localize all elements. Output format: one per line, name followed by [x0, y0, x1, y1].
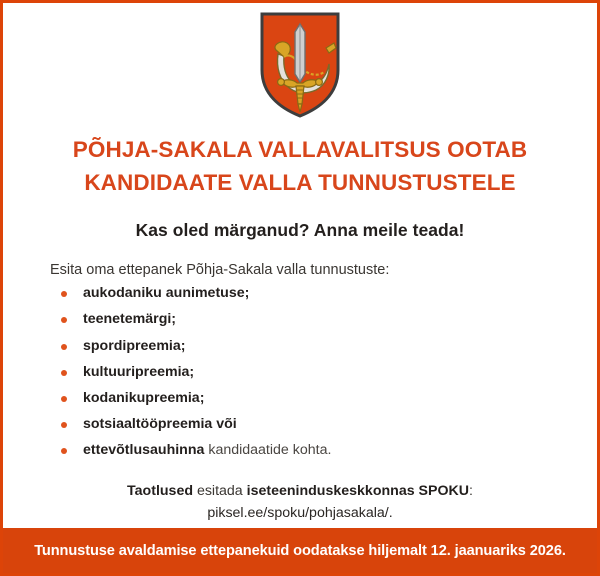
- instructions-portal-name: iseteeninduskeskkonnas SPOKU: [247, 483, 469, 499]
- page-title-line-1: PÕHJA-SAKALA VALLAVALITSUS OOTAB: [3, 134, 597, 167]
- list-item-label: teenetemärgi;: [83, 311, 176, 327]
- list-item-tail: kandidaatide kohta.: [204, 442, 331, 458]
- page-title: PÕHJA-SAKALA VALLAVALITSUS OOTAB KANDIDA…: [3, 134, 597, 199]
- bullet-dot-icon: [61, 370, 67, 376]
- list-item: teenetemärgi;: [61, 312, 597, 326]
- list-item-label: kultuuripreemia;: [83, 364, 194, 380]
- list-item-label: kodanikupreemia;: [83, 390, 204, 406]
- bullet-dot-icon: [61, 448, 67, 454]
- instructions-plain-1: esitada: [193, 483, 247, 499]
- award-types-list: aukodaniku aunimetuse; teenetemärgi; spo…: [3, 286, 597, 457]
- deadline-banner: Tunnustuse avaldamise ettepanekuid oodat…: [3, 528, 597, 573]
- coat-of-arms-shield-icon: [260, 12, 340, 118]
- list-item: ettevõtlusauhinna kandidaatide kohta.: [61, 443, 597, 457]
- intro-text: Esita oma ettepanek Põhja-Sakala valla t…: [3, 262, 597, 278]
- bullet-dot-icon: [61, 317, 67, 323]
- list-item: kodanikupreemia;: [61, 391, 597, 405]
- bullet-dot-icon: [61, 291, 67, 297]
- list-item-label: ettevõtlusauhinna: [83, 442, 204, 458]
- page-title-line-2: KANDIDAATE VALLA TUNNUSTUSTELE: [3, 167, 597, 200]
- instructions-bold-lead: Taotlused: [127, 483, 193, 499]
- bullet-dot-icon: [61, 422, 67, 428]
- crest-container: [3, 3, 597, 118]
- spoku-url[interactable]: piksel.ee/spoku/pohjasakala/.: [3, 502, 597, 524]
- list-item-label: aukodaniku aunimetuse;: [83, 285, 249, 301]
- deadline-text: Tunnustuse avaldamise ettepanekuid oodat…: [34, 543, 566, 559]
- subtitle: Kas oled märganud? Anna meile teada!: [3, 220, 597, 241]
- announcement-poster: PÕHJA-SAKALA VALLAVALITSUS OOTAB KANDIDA…: [0, 0, 600, 576]
- list-item: kultuuripreemia;: [61, 365, 597, 379]
- bullet-dot-icon: [61, 344, 67, 350]
- list-item-label: sotsiaaltööpreemia või: [83, 416, 237, 432]
- list-item: sotsiaaltööpreemia või: [61, 417, 597, 431]
- application-instructions: Taotlused esitada iseteeninduskeskkonnas…: [3, 480, 597, 524]
- list-item: aukodaniku aunimetuse;: [61, 286, 597, 300]
- list-item-label: spordipreemia;: [83, 338, 186, 354]
- instructions-plain-2: :: [469, 483, 473, 499]
- bullet-dot-icon: [61, 396, 67, 402]
- list-item: spordipreemia;: [61, 339, 597, 353]
